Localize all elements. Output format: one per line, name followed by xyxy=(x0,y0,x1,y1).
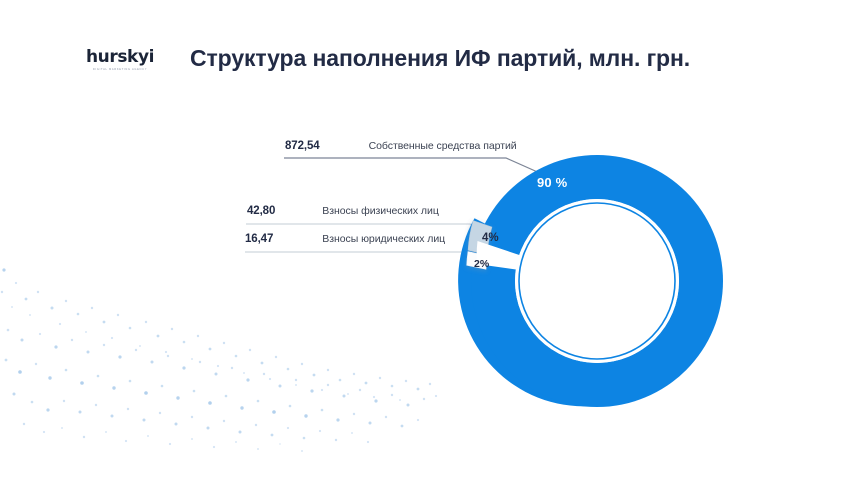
percent-label-own-funds: 90 % xyxy=(537,175,567,190)
callout-legal-entities: 16,47 Взносы юридических лиц xyxy=(245,233,445,245)
callout-value: 872,54 xyxy=(285,140,320,152)
callout-label: Взносы юридических лиц xyxy=(322,233,445,245)
callout-value: 16,47 xyxy=(245,233,273,245)
donut-hole xyxy=(515,199,679,363)
callout-value: 42,80 xyxy=(247,205,275,217)
callout-label: Собственные средства партий xyxy=(369,140,517,152)
callout-label: Взносы физических лиц xyxy=(322,205,439,217)
callout-individuals: 42,80 Взносы физических лиц xyxy=(247,205,439,217)
callout-own-funds: 872,54 Собственные средства партий xyxy=(285,140,517,152)
percent-label-legal-entities: 2% xyxy=(474,258,489,270)
percent-label-individuals: 4% xyxy=(482,232,499,244)
slide-canvas: hurskyi DIGITAL MARKETING AGENCY Структу… xyxy=(0,0,856,482)
